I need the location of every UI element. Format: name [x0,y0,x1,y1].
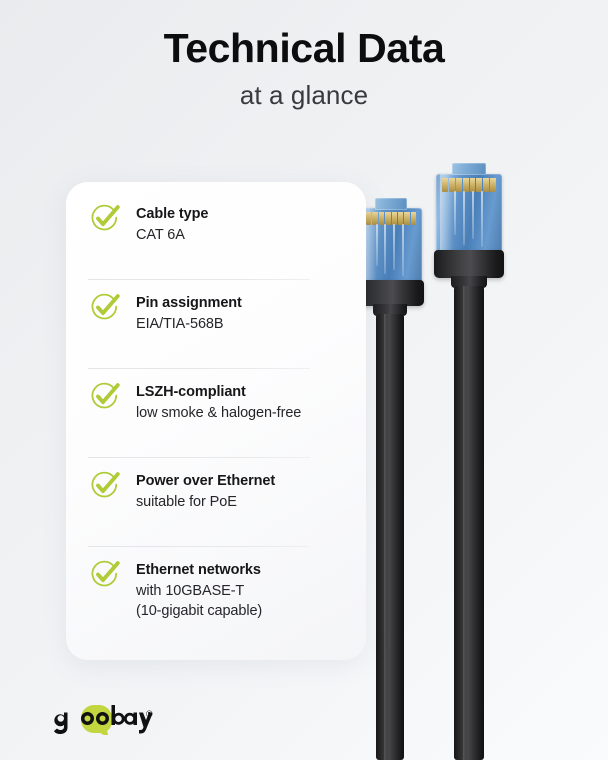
trademark-symbol: ® [146,709,153,719]
spec-row: Power over Ethernet suitable for PoE [66,471,366,533]
inner-wire [481,191,483,247]
specs-card: Cable type CAT 6A Pin assignment EIA/TIA… [66,182,366,660]
row-divider [88,279,310,280]
spec-detail: suitable for PoE [136,492,275,512]
spec-title: Power over Ethernet [136,472,275,492]
logo-letter-b [112,705,125,725]
spec-detail: (10-gigabit capable) [136,601,262,621]
contact-pins-back [442,178,496,192]
spec-texts: Ethernet networks with 10GBASE-T (10-gig… [136,560,262,621]
page-subtitle: at a glance [0,80,608,111]
contact-pin [476,178,482,192]
inner-wire [472,191,474,239]
spec-title: LSZH-compliant [136,383,301,403]
connector-housing-front [360,208,422,282]
check-circle-icon [88,468,122,502]
spec-texts: Cable type CAT 6A [136,204,208,245]
spec-detail: with 10GBASE-T [136,581,262,601]
contact-pin [490,178,496,192]
connector-housing-back [436,174,502,252]
spec-detail: EIA/TIA-568B [136,314,242,334]
logo-letter-a [124,713,137,726]
spec-texts: LSZH-compliant low smoke & halogen-free [136,382,301,423]
contact-pin [379,212,384,225]
spec-row: LSZH-compliant low smoke & halogen-free [66,382,366,444]
inner-wire [402,224,404,276]
contact-pin [449,178,455,192]
header: Technical Data at a glance [0,0,608,111]
spec-texts: Power over Ethernet suitable for PoE [136,471,275,512]
contact-pin [411,212,416,225]
contact-pin [470,178,476,192]
contact-pin [463,178,469,192]
contact-pin [404,212,409,225]
spec-row: Ethernet networks with 10GBASE-T (10-gig… [66,560,366,622]
page-title: Technical Data [0,26,608,72]
check-circle-icon [88,557,122,591]
inner-wire [463,191,465,245]
spec-title: Cable type [136,205,208,225]
latch-tab-front [375,198,407,210]
spec-title: Ethernet networks [136,561,262,581]
contact-pins-front [366,212,416,225]
inner-wire [454,191,456,235]
cable-lead-front [376,314,404,760]
spec-row: Cable type CAT 6A [66,204,366,266]
contact-pin [456,178,462,192]
inner-wire [384,224,386,274]
inner-wire [376,224,378,266]
spec-title: Pin assignment [136,294,242,314]
row-divider [88,368,310,369]
spec-texts: Pin assignment EIA/TIA-568B [136,293,242,334]
brand-logo: ® [52,702,153,736]
check-circle-icon [88,201,122,235]
inner-wire [393,224,395,270]
check-circle-icon [88,379,122,413]
row-divider [88,457,310,458]
contact-pin [385,212,390,225]
row-divider [88,546,310,547]
contact-pin [366,212,371,225]
strain-relief-boot-back [434,250,504,278]
cable-lead-back [454,286,484,760]
logo-letter-g [54,713,68,735]
infographic-page: Technical Data at a glance [0,0,608,760]
contact-pin [483,178,489,192]
strain-relief-boot-front [358,280,424,306]
spec-detail: low smoke & halogen-free [136,403,301,423]
contact-pin [442,178,448,192]
spec-row: Pin assignment EIA/TIA-568B [66,293,366,355]
latch-tab-back [452,163,486,175]
spec-detail: CAT 6A [136,225,208,245]
check-circle-icon [88,290,122,324]
goobay-logo-icon [52,703,152,735]
